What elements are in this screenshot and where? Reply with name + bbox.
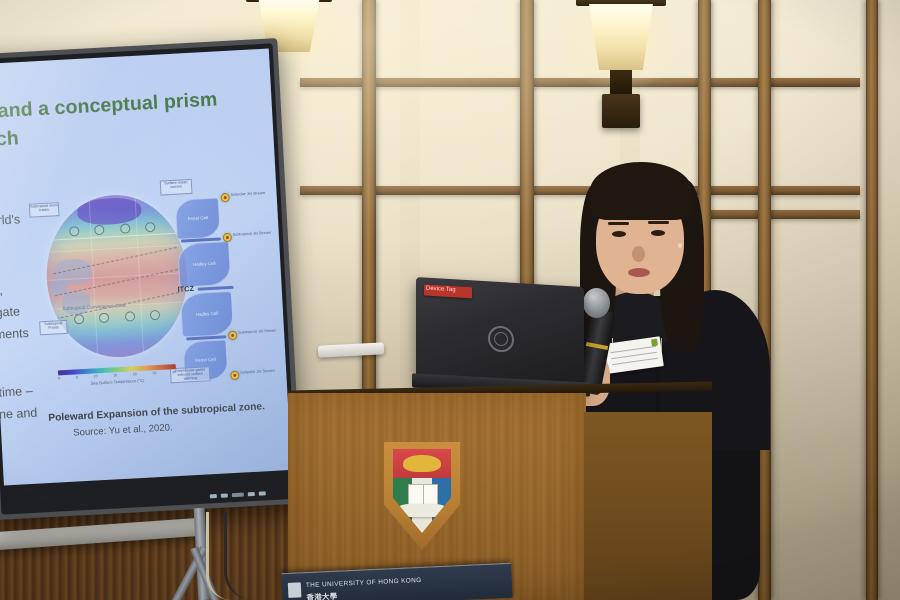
slide-title-line-1: e, and a conceptual prism	[0, 87, 218, 125]
asset-tag-text: Device Tag	[426, 286, 456, 294]
figure-source: Source: Yu et al., 2020.	[73, 422, 173, 438]
slide-body-line-2: ge,	[0, 281, 3, 300]
callout-subtropical-fronts: Subtropical Fronts	[39, 320, 68, 335]
polar-ice-region	[76, 197, 142, 226]
usb-port-icon	[259, 491, 266, 495]
globe-sst-map	[43, 191, 192, 360]
sconce-wall-plate	[602, 94, 639, 128]
microphone-head	[583, 288, 610, 318]
lectern: THE UNIVERSITY OF HONG KONG 香港大學	[288, 386, 712, 600]
speaker-eyebrow-left	[608, 222, 629, 225]
slide-body-line-6: ene and	[0, 404, 38, 425]
cyclone-symbol	[99, 312, 110, 323]
crest-motto-scroll	[396, 504, 447, 517]
climate-figure: Subtropical Convergence Zone Ferrel Cell…	[34, 177, 275, 399]
jet-stream-marker	[220, 193, 229, 202]
banner-logo-icon	[288, 582, 302, 598]
dell-logo-icon	[488, 325, 514, 353]
callout-surface-current: Surface ocean current	[160, 179, 193, 196]
cell-label: Hadley Cell	[179, 260, 229, 268]
jet-stream-marker	[223, 233, 232, 242]
tick-label: 15	[113, 373, 117, 377]
badge-text-line	[612, 358, 658, 365]
slide-screen: e, and a conceptual prism arch world's g…	[0, 49, 292, 486]
jet-stream-label: Subpolar Jet Stream	[240, 369, 275, 375]
wall-sconce-right	[582, 4, 660, 70]
banner-title-en: THE UNIVERSITY OF HONG KONG	[306, 577, 422, 589]
speaker-eyebrow-right	[648, 221, 669, 224]
itcz-label: ITCZ	[177, 284, 194, 294]
cell-label: Ferrel Cell	[177, 214, 219, 221]
sconce-shade	[582, 4, 660, 70]
speaker-hair-top	[590, 162, 692, 220]
hku-crest-shield	[393, 449, 451, 533]
speaker-nose	[632, 246, 645, 262]
cyclone-symbol	[74, 314, 85, 325]
tick-label: 0	[58, 376, 60, 380]
speaker-eye-left	[612, 231, 626, 237]
signal-cable	[206, 512, 231, 600]
circulation-cell-ferrel-top: Ferrel Cell	[175, 197, 221, 239]
tick-label: 10	[93, 374, 97, 378]
presentation-display: e, and a conceptual prism arch world's g…	[0, 38, 302, 520]
banner-title-zh: 香港大學	[306, 591, 338, 600]
slide-body-line-1: world's	[0, 210, 21, 230]
slide-body-line-4: ements	[0, 324, 29, 344]
itcz-bar	[198, 286, 234, 291]
circulation-cell-hadley-top: Hadley Cell	[177, 241, 231, 288]
tick-label: 25	[152, 371, 156, 375]
lectern-side-face	[584, 412, 712, 600]
slide-body-line-3: itigate	[0, 302, 20, 322]
speaker-eye-right	[651, 230, 665, 236]
figure-caption: Poleward Expansion of the subtropical zo…	[48, 401, 265, 424]
cyclone-symbol	[120, 223, 131, 234]
jet-stream-label: Subtropical Jet Stream	[233, 231, 272, 237]
usb-port-icon	[210, 494, 217, 498]
cell-label: Hadley Cell	[182, 310, 232, 318]
slide-title-line-2: arch	[0, 126, 20, 154]
jet-stream-marker	[228, 331, 237, 340]
cyclone-symbol	[69, 226, 80, 237]
usb-port-icon	[221, 493, 228, 497]
cell-label: Ferrel Cell	[184, 356, 226, 363]
cyclone-symbol	[124, 311, 135, 322]
usb-port-icon	[248, 492, 255, 496]
callout-storm-tracks: Subtropical storm tracks	[29, 202, 60, 218]
badge-logo-icon	[651, 339, 658, 347]
laptop-asset-tag: Device Tag	[424, 284, 472, 298]
jet-stream-marker	[230, 371, 239, 380]
circulation-cell-hadley-bottom: Hadley Cell	[180, 291, 234, 338]
speaker-mouth	[628, 268, 650, 277]
jet-stream-label: Subtropical Jet Stream	[238, 329, 277, 335]
cyclone-symbol	[145, 222, 156, 233]
hdmi-port-icon	[232, 493, 244, 498]
tick-label: 5	[76, 375, 78, 379]
presentation-photo: e, and a conceptual prism arch world's g…	[0, 0, 900, 600]
crest-lion-icon	[403, 455, 440, 472]
tick-label: 20	[133, 372, 137, 376]
cyclone-symbol	[149, 309, 160, 320]
jet-stream-label: Subpolar Jet Stream	[230, 191, 265, 197]
cyclone-symbol	[94, 225, 105, 236]
sconce-bracket	[610, 70, 632, 96]
slide-body-line-5: r time –	[0, 382, 33, 402]
tick-label: 30	[172, 370, 176, 374]
speaker-earring	[678, 243, 682, 248]
